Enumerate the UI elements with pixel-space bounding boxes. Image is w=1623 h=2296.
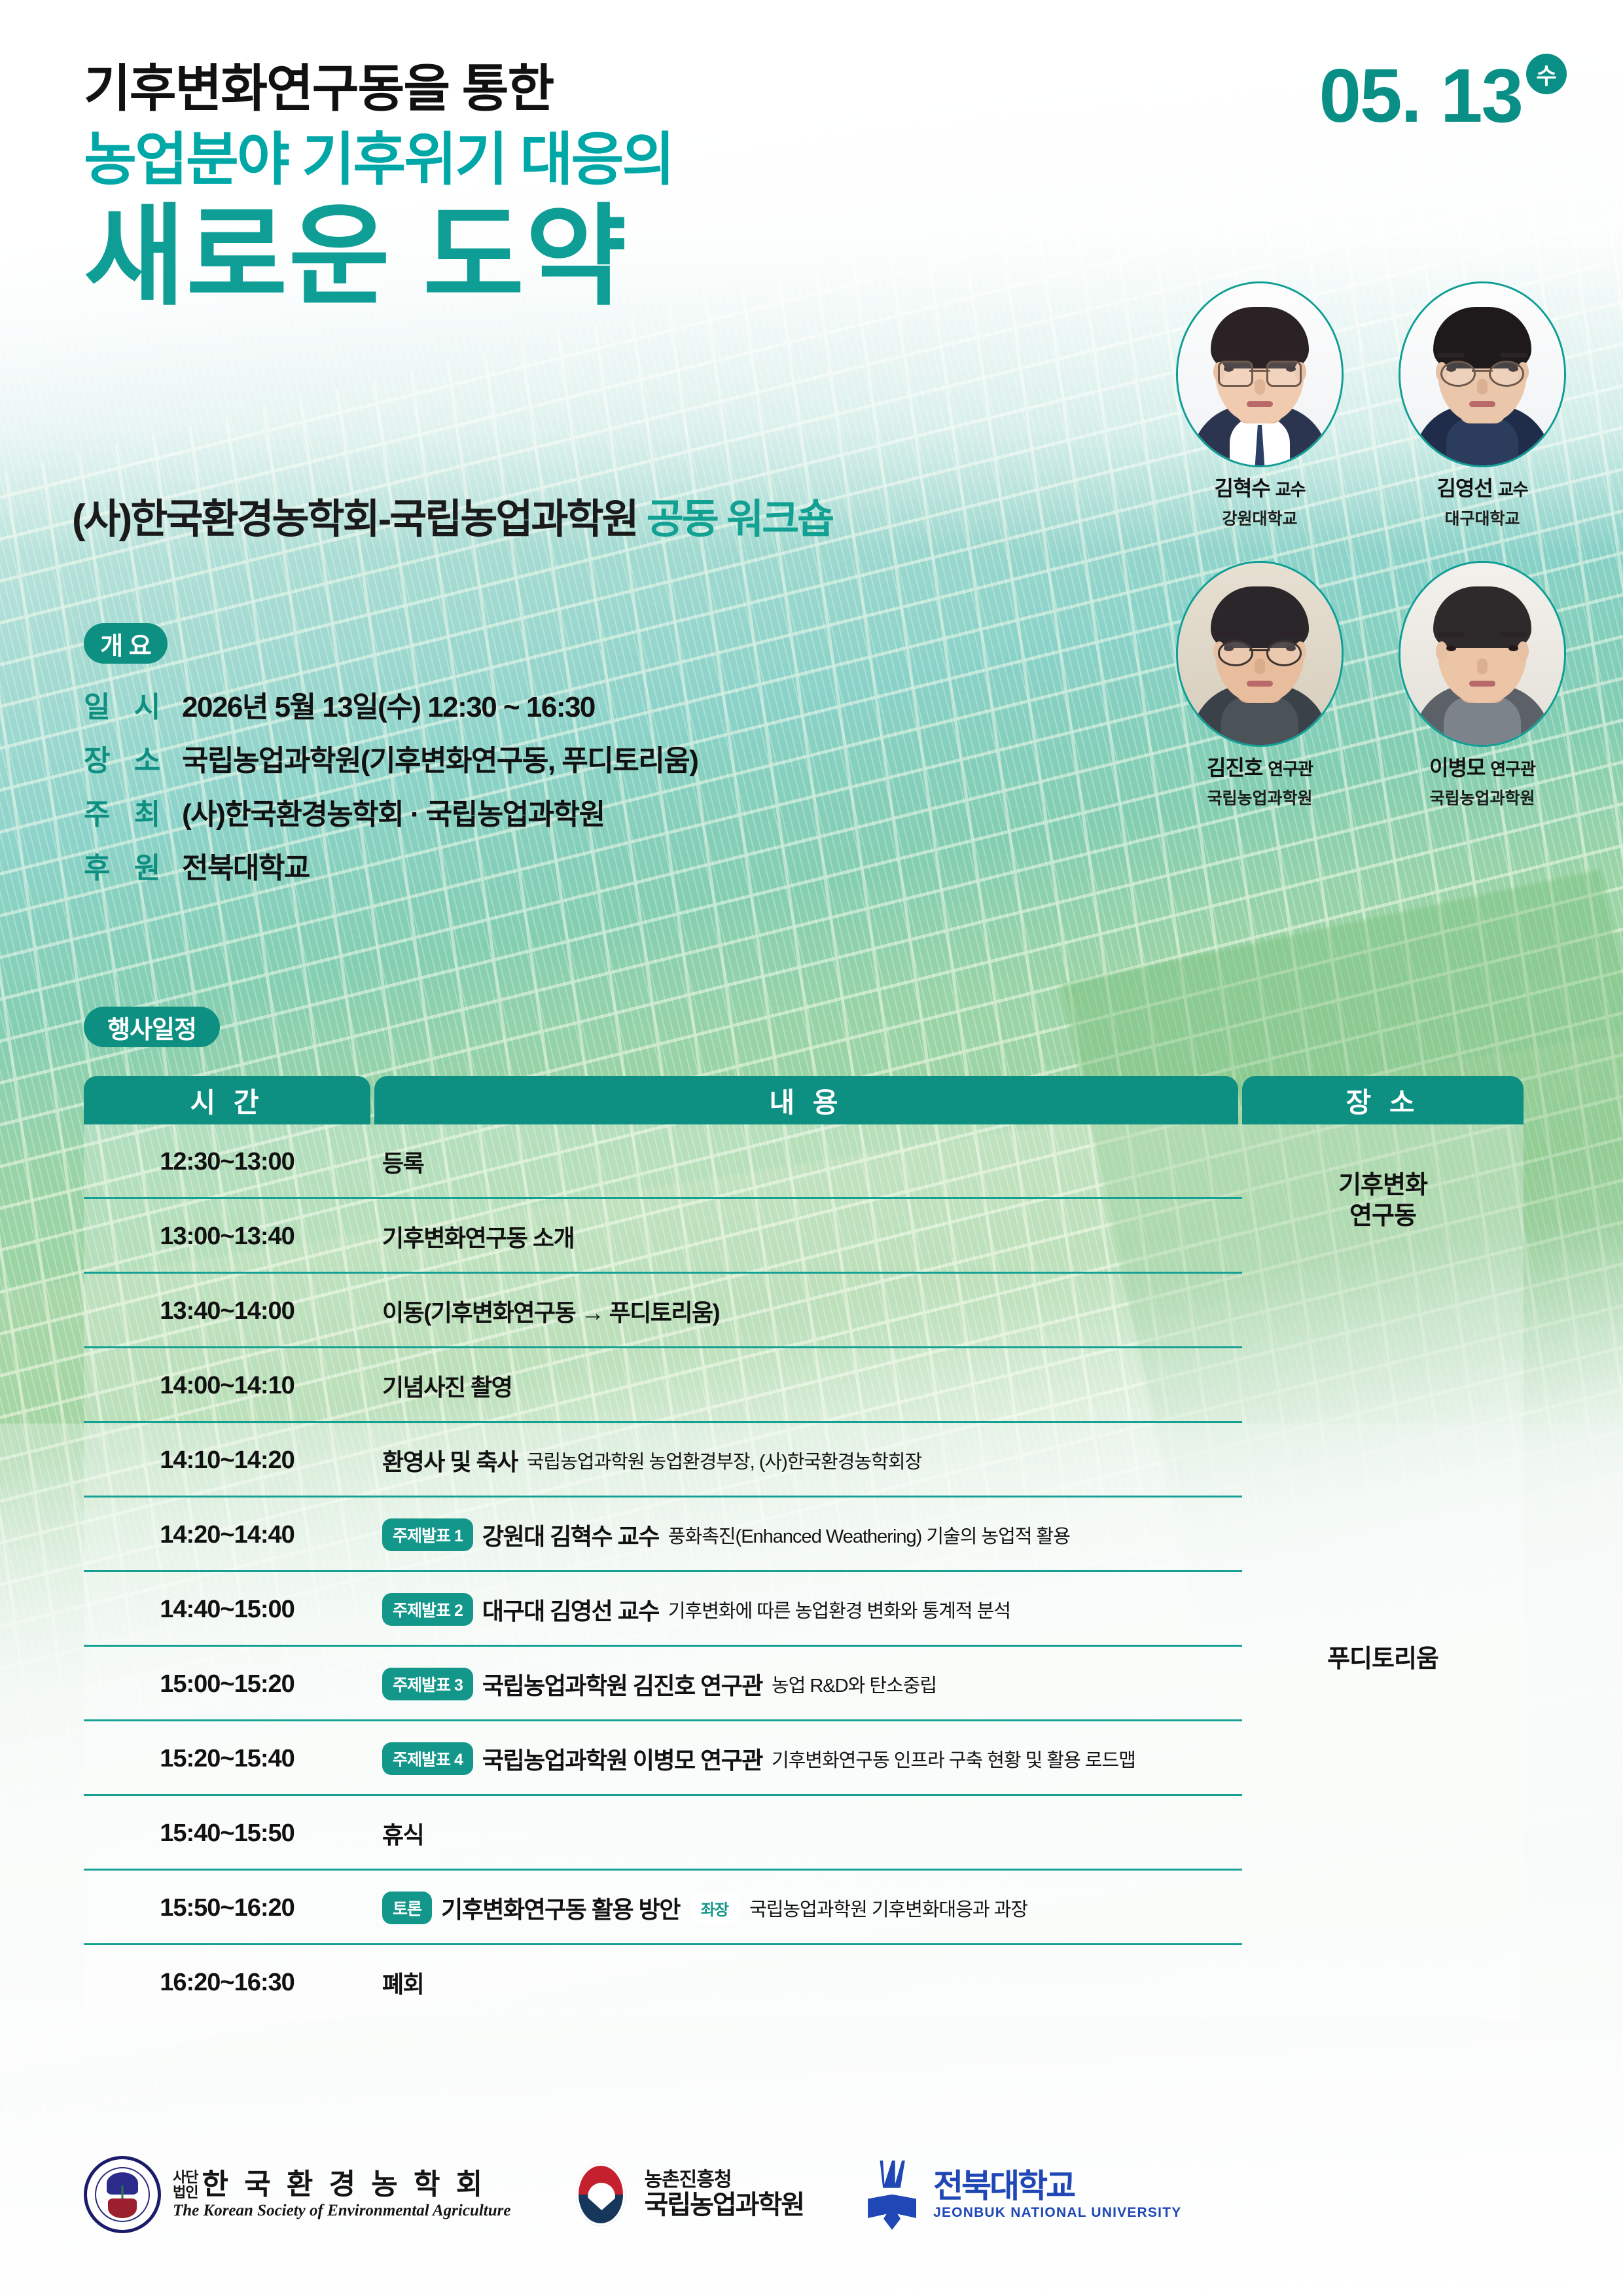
session-title: 폐회 [382,1965,423,2000]
session-description: 기후변화에 따른 농업환경 변화와 통계적 분석 [668,1596,1010,1623]
session-description: 국립농업과학원 농업환경부장, (사)한국환경농학회장 [527,1446,921,1474]
cell-time: 14:10~14:20 [84,1446,370,1475]
speaker-role-text: 연구관 [1268,759,1313,779]
date-dayofweek-badge: 수 [1526,54,1567,94]
session-description: 농업 R&D와 탄소중립 [772,1670,936,1698]
schedule-table-header: 시 간 내 용 장 소 [84,1076,1524,1124]
speaker-role-text: 연구관 [1490,759,1535,779]
table-row: 13:40~14:00이동(기후변화연구동 → 푸디토리움) [84,1274,1524,1348]
cell-content: 토론기후변화연구동 활용 방안좌장국립농업과학원 기후변화대응과 과장 [370,1891,1524,1925]
ksea-logo-text: 사단 법인 한 국 환 경 농 학 회 The Korean Society o… [173,2170,510,2219]
avatar [1176,281,1344,467]
table-row: 14:00~14:10기념사진 촬영 [84,1348,1524,1423]
column-header-time: 시 간 [84,1076,370,1124]
table-row: 14:20~14:40주제발표 1강원대 김혁수 교수풍화촉진(Enhanced… [84,1498,1524,1572]
ksea-prefix: 사단 법인 [173,2170,198,2200]
session-title: 국립농업과학원 이병모 연구관 [482,1742,762,1776]
table-row: 15:20~15:40주제발표 4국립농업과학원 이병모 연구관기후변화연구동 … [84,1721,1524,1796]
overview-row-sponsor: 후 원 전북대학교 [84,844,935,886]
session-title: 강원대 김혁수 교수 [482,1518,659,1552]
event-date: 05. 13 수 [1319,58,1567,134]
session-title: 휴식 [382,1816,423,1850]
overview-value-host: (사)한국환경농학회 · 국립농업과학원 [182,791,605,833]
speaker-affiliation-1: 대구대학교 [1387,506,1577,529]
jbnu-emblem-icon [864,2161,921,2229]
cell-content: 폐회 [370,1965,1524,2000]
speaker-name-2: 김진호 연구관 [1165,756,1355,780]
ksea-prefix-line2: 법인 [173,2184,198,2200]
session-title: 대구대 김영선 교수 [482,1592,659,1626]
column-header-place: 장 소 [1242,1076,1524,1124]
overview-section: 개 요 일 시 2026년 5월 13일(수) 12:30 ~ 16:30 장 … [84,623,935,898]
avatar [1176,561,1344,747]
ksea-seal-icon [84,2156,161,2233]
schedule-table-body: 12:30~13:00등록13:00~13:40기후변화연구동 소개13:40~… [84,1124,1524,2020]
cell-time: 15:50~16:20 [84,1894,370,1922]
cell-content: 휴식 [370,1816,1524,1850]
session-title: 기념사진 촬영 [382,1369,512,1403]
cell-content: 환영사 및 축사국립농업과학원 농업환경부장, (사)한국환경농학회장 [370,1443,1524,1477]
overview-label-datetime: 일 시 [84,683,182,725]
ksea-name-ko: 한 국 환 경 농 학 회 [202,2170,486,2200]
speaker-card-2: 김진호 연구관 국립농업과학원 [1165,561,1355,809]
subtitle-highlight-text: 공동 워크숍 [647,497,832,542]
cell-time: 14:00~14:10 [84,1372,370,1400]
cell-content: 등록 [370,1145,1524,1179]
ksea-name-en: The Korean Society of Environmental Agri… [173,2202,510,2219]
title-line-2: 농업분야 기후위기 대응의 [84,131,1065,188]
table-row: 13:00~13:40기후변화연구동 소개 [84,1199,1524,1274]
session-title: 국립농업과학원 김진호 연구관 [482,1667,762,1701]
cell-content: 주제발표 1강원대 김혁수 교수풍화촉진(Enhanced Weathering… [370,1518,1524,1552]
speaker-card-3: 이병모 연구관 국립농업과학원 [1387,561,1577,809]
overview-label-sponsor: 후 원 [84,844,182,886]
schedule-section: 행사일정 시 간 내 용 장 소 12:30~13:00등록13:00~13:4… [84,1007,1537,2020]
session-description: 기후변화연구동 인프라 구축 현황 및 활용 로드맵 [772,1745,1135,1772]
jbnu-name-en: JEONBUK NATIONAL UNIVERSITY [933,2206,1181,2221]
overview-value-venue: 국립농업과학원(기후변화연구동, 푸디토리움) [182,737,698,779]
speaker-row-bottom: 김진호 연구관 국립농업과학원 [1165,561,1577,809]
session-title: 기후변화연구동 소개 [382,1219,574,1253]
subtitle-main-text: (사)한국환경농학회-국립농업과학원 [72,497,647,542]
session-type-badge: 토론 [382,1892,432,1924]
subtitle-organizers: (사)한국환경농학회-국립농업과학원 공동 워크숍 [72,486,832,545]
avatar [1399,561,1566,747]
cell-time: 13:40~14:00 [84,1297,370,1325]
speaker-affiliation-3: 국립농업과학원 [1387,785,1577,809]
table-row: 16:20~16:30폐회 [84,1945,1524,2020]
speaker-name-text: 김영선 [1436,476,1492,500]
overview-label-host: 주 최 [84,791,182,833]
cell-content: 주제발표 3국립농업과학원 김진호 연구관농업 R&D와 탄소중립 [370,1667,1524,1701]
jbnu-logo-text: 전북대학교 JEONBUK NATIONAL UNIVERSITY [933,2168,1181,2221]
table-row: 15:40~15:50휴식 [84,1796,1524,1871]
speaker-row-top: 김혁수 교수 강원대학교 [1165,281,1577,529]
title-line-1: 기후변화연구동을 통한 [84,63,1065,114]
cell-time: 12:30~13:00 [84,1148,370,1176]
session-type-badge: 주제발표 2 [382,1593,473,1626]
session-title: 등록 [382,1145,423,1179]
overview-row-venue: 장 소 국립농업과학원(기후변화연구동, 푸디토리움) [84,737,935,779]
schedule-section-badge: 행사일정 [84,1007,220,1047]
cell-content: 주제발표 4국립농업과학원 이병모 연구관기후변화연구동 인프라 구축 현황 및… [370,1742,1524,1776]
speaker-name-1: 김영선 교수 [1387,476,1577,501]
session-title: 이동(기후변화연구동 → 푸디토리움) [382,1294,719,1328]
overview-row-host: 주 최 (사)한국환경농학회 · 국립농업과학원 [84,791,935,833]
session-type-badge: 주제발표 3 [382,1668,473,1700]
ksea-prefix-line1: 사단 [173,2169,198,2185]
overview-value-datetime: 2026년 5월 13일(수) 12:30 ~ 16:30 [182,683,595,725]
rda-agency-name: 농촌진흥청 [644,2169,804,2191]
speaker-card-1: 김영선 교수 대구대학교 [1387,281,1577,529]
cell-content: 이동(기후변화연구동 → 푸디토리움) [370,1294,1524,1328]
cell-content: 기념사진 촬영 [370,1369,1524,1403]
session-title: 환영사 및 축사 [382,1443,518,1477]
overview-list: 일 시 2026년 5월 13일(수) 12:30 ~ 16:30 장 소 국립… [84,683,935,886]
table-row: 15:50~16:20토론기후변화연구동 활용 방안좌장국립농업과학원 기후변화… [84,1871,1524,1945]
title-line-3: 새로운 도약 [84,199,1065,314]
overview-value-sponsor: 전북대학교 [182,844,310,886]
session-description: 풍화촉진(Enhanced Weathering) 기술의 농업적 활용 [668,1521,1070,1549]
table-row: 14:40~15:00주제발표 2대구대 김영선 교수기후변화에 따른 농업환경… [84,1572,1524,1647]
title-block: 기후변화연구동을 통한 농업분야 기후위기 대응의 새로운 도약 [84,63,1065,314]
speaker-gallery: 김혁수 교수 강원대학교 [1165,281,1577,825]
session-type-badge: 주제발표 1 [382,1518,473,1551]
speaker-name-0: 김혁수 교수 [1165,476,1355,501]
chair-badge: 좌장 [689,1893,740,1924]
cell-content: 기후변화연구동 소개 [370,1219,1524,1253]
table-row: 15:00~15:20주제발표 3국립농업과학원 김진호 연구관농업 R&D와 … [84,1647,1524,1721]
speaker-name-text: 김진호 [1207,756,1262,780]
speaker-affiliation-0: 강원대학교 [1165,506,1355,529]
session-title: 기후변화연구동 활용 방안 [441,1891,680,1925]
cell-time: 14:20~14:40 [84,1521,370,1549]
government-taeguk-icon [571,2161,632,2229]
overview-row-datetime: 일 시 2026년 5월 13일(수) 12:30 ~ 16:30 [84,683,935,725]
logo-jbnu: 전북대학교 JEONBUK NATIONAL UNIVERSITY [864,2161,1181,2229]
cell-time: 15:00~15:20 [84,1670,370,1698]
table-row: 14:10~14:20환영사 및 축사국립농업과학원 농업환경부장, (사)한국… [84,1423,1524,1498]
cell-time: 16:20~16:30 [84,1969,370,1997]
speaker-card-0: 김혁수 교수 강원대학교 [1165,281,1355,529]
cell-content: 주제발표 2대구대 김영선 교수기후변화에 따른 농업환경 변화와 통계적 분석 [370,1592,1524,1626]
cell-time: 13:00~13:40 [84,1223,370,1251]
poster-canvas: 기후변화연구동을 통한 농업분야 기후위기 대응의 새로운 도약 (사)한국환경… [0,0,1623,2296]
naas-institute-name: 국립농업과학원 [644,2191,804,2220]
cell-time: 15:40~15:50 [84,1820,370,1848]
logo-rda-naas: 농촌진흥청 국립농업과학원 [571,2161,804,2229]
speaker-role-text: 교수 [1275,480,1306,499]
jbnu-name-ko: 전북대학교 [933,2168,1181,2204]
chair-description: 국립농업과학원 기후변화대응과 과장 [749,1894,1027,1922]
speaker-name-3: 이병모 연구관 [1387,756,1577,780]
table-row: 12:30~13:00등록 [84,1124,1524,1199]
speaker-role-text: 교수 [1498,480,1528,499]
speaker-name-text: 이병모 [1429,756,1485,780]
avatar [1399,281,1566,467]
overview-label-venue: 장 소 [84,737,182,779]
rda-logo-text: 농촌진흥청 국립농업과학원 [644,2169,804,2220]
logo-ksea: 사단 법인 한 국 환 경 농 학 회 The Korean Society o… [84,2156,510,2233]
footer-logos: 사단 법인 한 국 환 경 농 학 회 The Korean Society o… [84,2156,1181,2233]
cell-time: 14:40~15:00 [84,1596,370,1624]
overview-section-badge: 개 요 [84,623,168,664]
session-type-badge: 주제발표 4 [382,1742,473,1775]
date-number: 05. 13 [1319,58,1522,134]
column-header-content: 내 용 [374,1076,1238,1124]
speaker-name-text: 김혁수 [1214,476,1270,500]
schedule-table: 시 간 내 용 장 소 12:30~13:00등록13:00~13:40기후변화… [84,1076,1524,2020]
cell-time: 15:20~15:40 [84,1745,370,1773]
speaker-affiliation-2: 국립농업과학원 [1165,785,1355,809]
